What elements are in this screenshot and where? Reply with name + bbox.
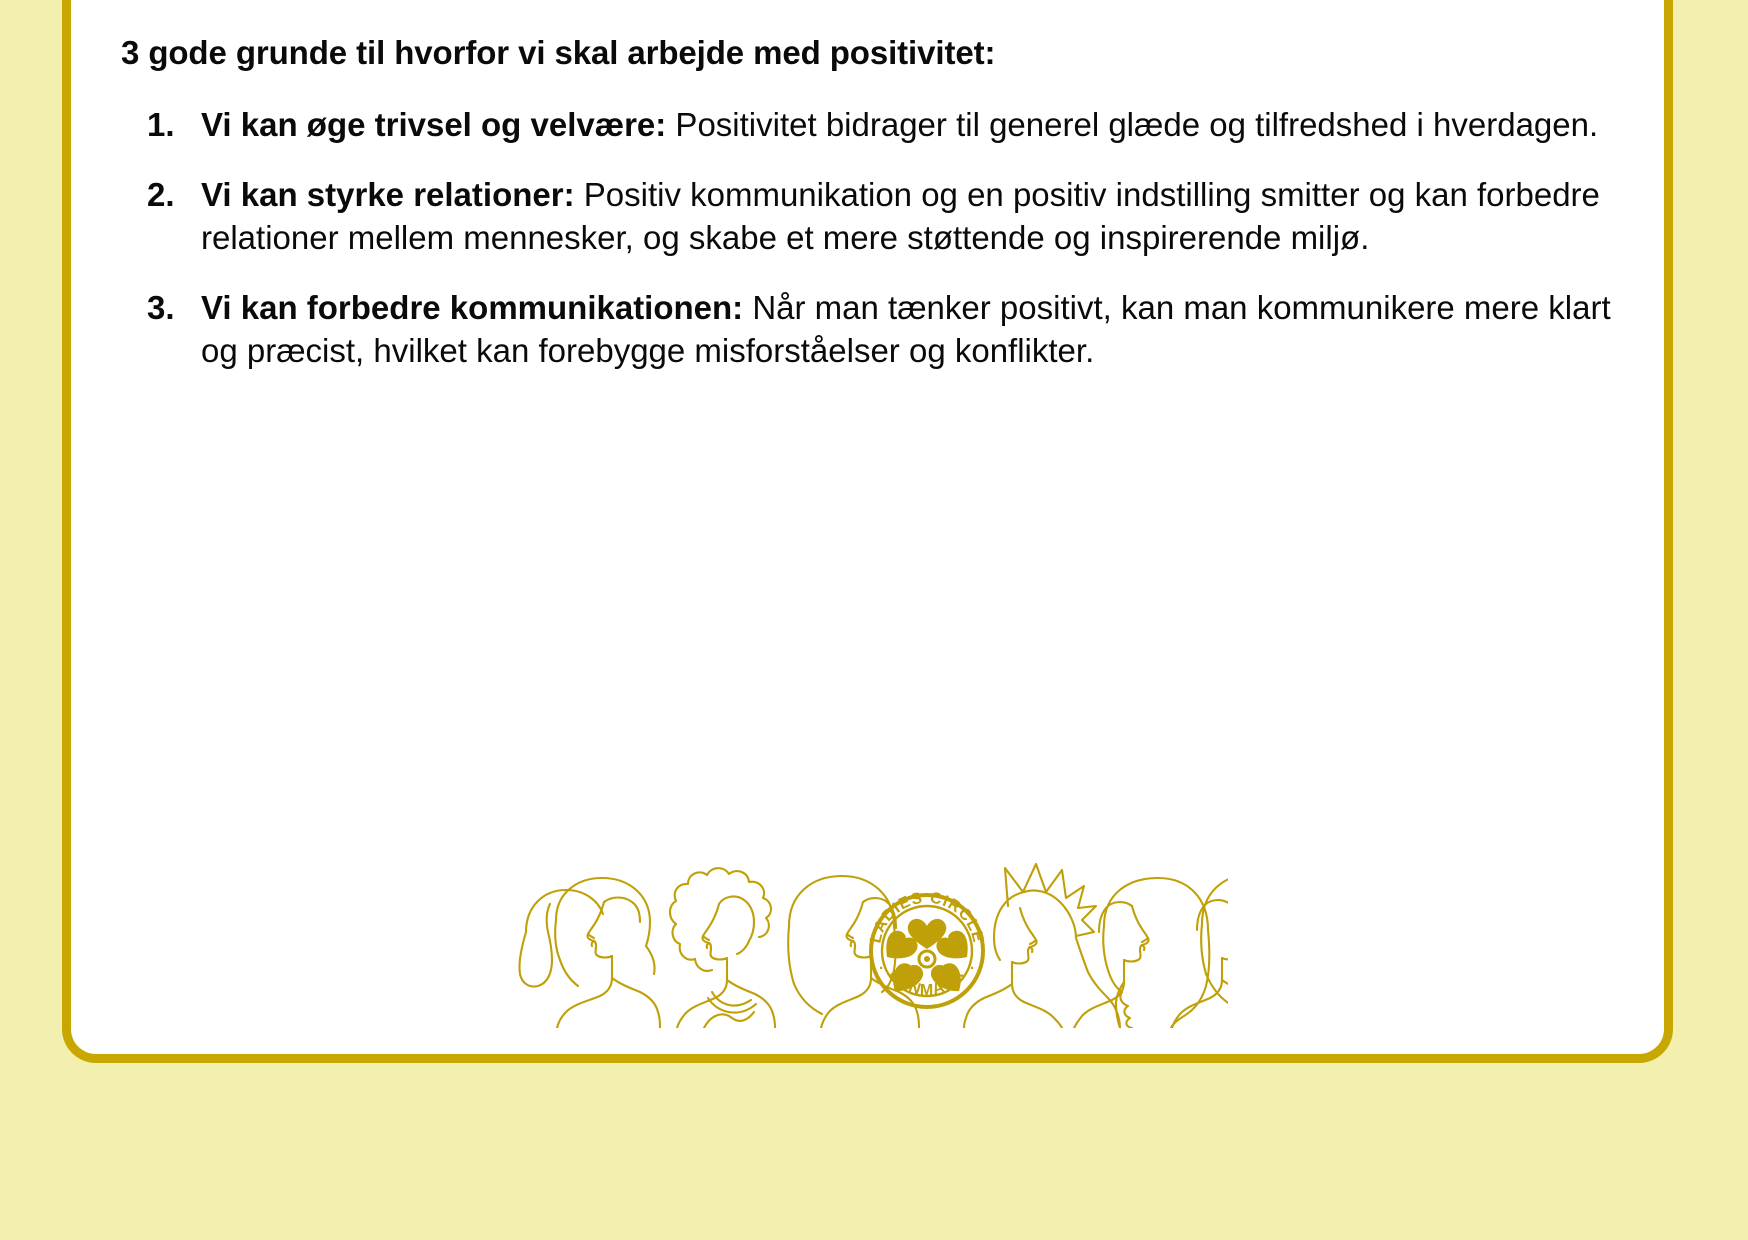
list-item: 1.Vi kan øge trivsel og velvære: Positiv… — [147, 103, 1612, 147]
page-title: 3 gode grunde til hvorfor vi skal arbejd… — [119, 32, 1612, 73]
list-item-lead: Vi kan forbedre kommunikationen: — [201, 289, 743, 326]
list-item-number: 3. — [147, 286, 193, 330]
emblem-right-dot: · — [970, 960, 975, 977]
list-item: 2.Vi kan styrke relationer: Positiv komm… — [147, 173, 1612, 260]
card-content: 3 gode grunde til hvorfor vi skal arbejd… — [71, 0, 1664, 1054]
list-item-number: 2. — [147, 173, 193, 217]
ladies-circle-logo-svg: LADIES CIRCLE DANMARK · · — [508, 846, 1228, 1028]
list-item-lead: Vi kan styrke relationer: — [201, 176, 575, 213]
figure-profile-2-curly — [670, 868, 775, 1028]
figure-ponytail-back — [519, 890, 603, 987]
content-card: 3 gode grunde til hvorfor vi skal arbejd… — [62, 0, 1673, 1063]
brand-logo: LADIES CIRCLE DANMARK · · — [71, 838, 1664, 1028]
figure-profile-6-long — [1172, 874, 1228, 1028]
reasons-list: 1.Vi kan øge trivsel og velvære: Positiv… — [119, 103, 1612, 373]
emblem-left-dot: · — [879, 960, 884, 977]
list-item-body: Positivitet bidrager til generel glæde o… — [666, 106, 1598, 143]
list-item-lead: Vi kan øge trivsel og velvære: — [201, 106, 666, 143]
figure-profile-5-braid — [1074, 878, 1209, 1028]
figure-profile-4-spiky — [964, 864, 1120, 1028]
list-item-number: 1. — [147, 103, 193, 147]
emblem-bottom-label: DANMARK — [886, 966, 967, 999]
page-background: 3 gode grunde til hvorfor vi skal arbejd… — [0, 0, 1748, 1240]
figure-profile-1 — [555, 878, 660, 1028]
list-item: 3.Vi kan forbedre kommunikationen: Når m… — [147, 286, 1612, 373]
